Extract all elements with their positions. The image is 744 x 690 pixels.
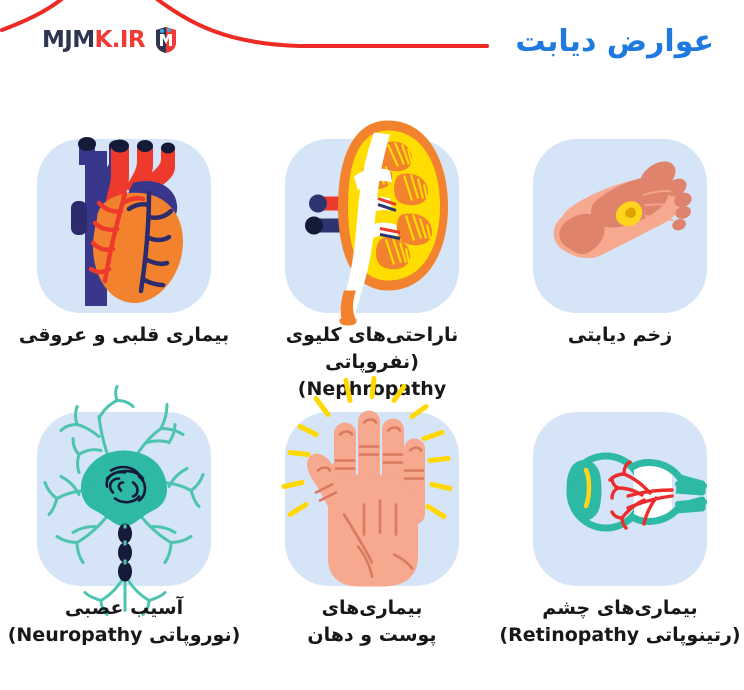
card-label-line2: پوست و دهان bbox=[248, 622, 496, 649]
logo-wordmark: MJMK.IR bbox=[42, 29, 145, 52]
card-label-line1: بیماری قلبی و عروقی bbox=[0, 322, 248, 349]
site-logo[interactable]: MJMK.IR bbox=[42, 26, 179, 54]
card-label-line1: ناراحتی‌های کلیوی bbox=[248, 322, 496, 349]
eye-retinopathy-icon bbox=[530, 434, 710, 564]
icon-tile bbox=[37, 139, 211, 313]
kidney-icon bbox=[282, 113, 462, 328]
card-label-line2: (نوروپاتی Neuropathy) bbox=[0, 622, 248, 649]
hand-tingling-icon bbox=[272, 397, 472, 602]
card-label: زخم دیابتی bbox=[496, 322, 744, 349]
card-label-line2: (رتینوپاتی Retinopathy) bbox=[496, 622, 744, 649]
icon-tile bbox=[533, 412, 707, 586]
neuron-icon bbox=[29, 397, 219, 602]
page-header: MJMK.IR عوارض دیابت bbox=[0, 0, 744, 100]
diabetic-foot-ulcer-icon bbox=[540, 151, 700, 301]
complications-grid: بیماری قلبی و عروقی bbox=[0, 118, 744, 663]
card-label-line1: بیماری‌های چشم bbox=[496, 595, 744, 622]
card-label: بیماری‌های چشم (رتینوپاتی Retinopathy) bbox=[496, 595, 744, 649]
icon-tile bbox=[533, 139, 707, 313]
complication-card-foot[interactable]: زخم دیابتی bbox=[496, 118, 744, 391]
complication-card-neuron[interactable]: آسیب عصبی (نوروپاتی Neuropathy) bbox=[0, 391, 248, 663]
mjmk-logo-mark-icon bbox=[153, 26, 179, 54]
card-label-line1: زخم دیابتی bbox=[496, 322, 744, 349]
card-label: آسیب عصبی (نوروپاتی Neuropathy) bbox=[0, 595, 248, 649]
card-label: بیماری‌های پوست و دهان bbox=[248, 595, 496, 649]
logo-text-red: K.IR bbox=[95, 27, 145, 53]
logo-text-dark: MJM bbox=[42, 27, 95, 53]
card-label: بیماری قلبی و عروقی bbox=[0, 322, 248, 349]
icon-tile bbox=[285, 412, 459, 586]
complication-card-kidney[interactable]: ناراحتی‌های کلیوی (نفروپاتی Nephropathy) bbox=[248, 118, 496, 391]
anatomical-heart-icon bbox=[49, 131, 199, 321]
complication-card-heart[interactable]: بیماری قلبی و عروقی bbox=[0, 118, 248, 391]
complication-card-hand[interactable]: بیماری‌های پوست و دهان bbox=[248, 391, 496, 663]
icon-tile bbox=[285, 139, 459, 313]
card-label-line1: آسیب عصبی bbox=[0, 595, 248, 622]
page-title: عوارض دیابت bbox=[515, 24, 714, 60]
card-label-line1: بیماری‌های bbox=[248, 595, 496, 622]
icon-tile bbox=[37, 412, 211, 586]
complication-card-eye[interactable]: بیماری‌های چشم (رتینوپاتی Retinopathy) bbox=[496, 391, 744, 663]
